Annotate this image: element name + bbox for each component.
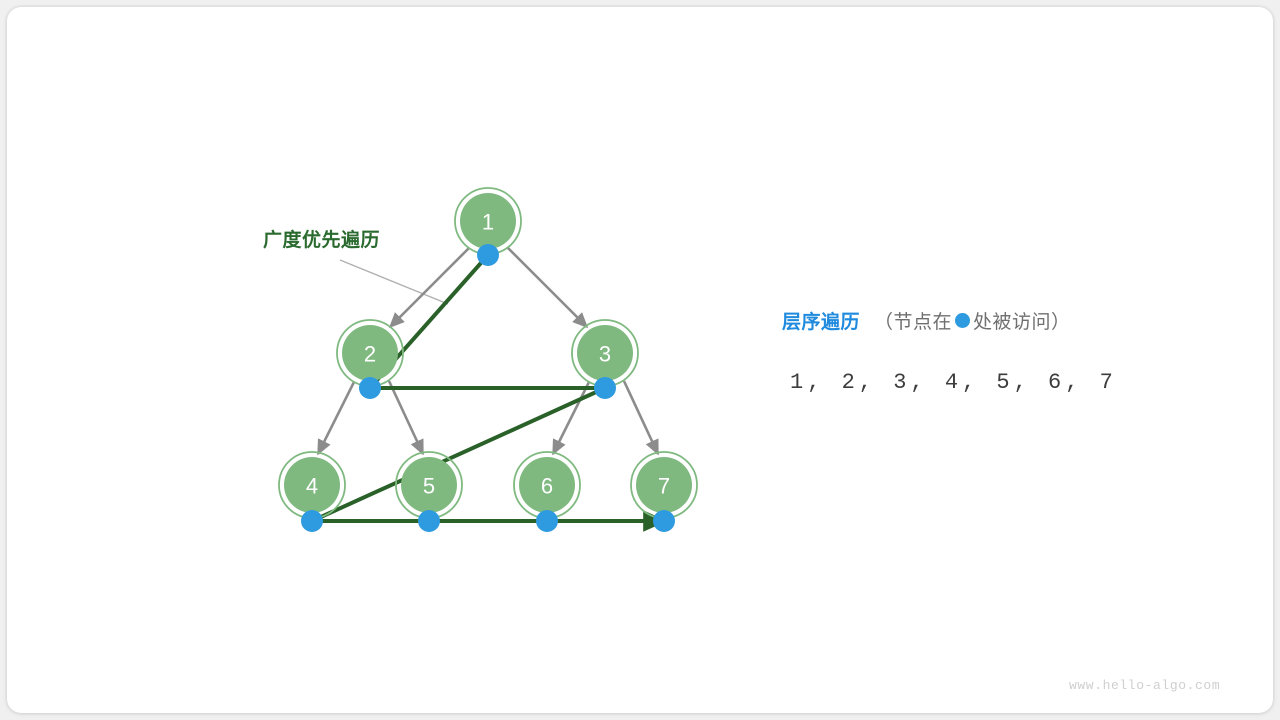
annotation-leader-line <box>340 260 448 304</box>
visit-dot-7[interactable] <box>653 510 675 532</box>
tree-edge-n3-n6 <box>553 382 589 454</box>
tree-node-4[interactable]: 4 <box>279 452 345 518</box>
node-label: 7 <box>658 474 670 499</box>
node-label: 2 <box>364 342 376 367</box>
visit-dot-2[interactable] <box>359 377 381 399</box>
visit-dot-1[interactable] <box>477 244 499 266</box>
bfs-annotation-label: 广度优先遍历 <box>263 225 380 252</box>
traversal-sequence: 1, 2, 3, 4, 5, 6, 7 <box>790 370 1117 395</box>
tree-node-3[interactable]: 3 <box>572 320 638 386</box>
node-label: 5 <box>423 474 435 499</box>
tree-node-7[interactable]: 7 <box>631 452 697 518</box>
tree-node-5[interactable]: 5 <box>396 452 462 518</box>
visit-dot-5[interactable] <box>418 510 440 532</box>
legend-note-prefix: （节点在 <box>874 307 952 334</box>
visit-dot-4[interactable] <box>301 510 323 532</box>
node-label: 4 <box>306 474 318 499</box>
tree-edge-n2-n5 <box>389 381 423 454</box>
legend-note-suffix: 处被访问） <box>973 307 1071 334</box>
legend-note: （节点在 处被访问） <box>874 307 1071 334</box>
tree-edge-n2-n4 <box>318 382 354 454</box>
tree-node-6[interactable]: 6 <box>514 452 580 518</box>
tree-node-2[interactable]: 2 <box>337 320 403 386</box>
tree-edge-n3-n7 <box>624 381 658 454</box>
node-label: 3 <box>599 342 611 367</box>
visit-dot-6[interactable] <box>536 510 558 532</box>
visit-dot-icon <box>955 313 970 328</box>
legend-row: 层序遍历 （节点在 处被访问） <box>782 307 1071 334</box>
binary-tree-bfs-diagram: 1234567 <box>7 7 1273 713</box>
visit-dot-3[interactable] <box>594 377 616 399</box>
tree-edge-n1-n3 <box>508 248 587 327</box>
figure-card: 1234567 广度优先遍历 层序遍历 （节点在 处被访问） 1, 2, 3, … <box>7 7 1273 713</box>
site-watermark: www.hello-algo.com <box>1069 678 1220 693</box>
node-label: 1 <box>482 210 494 235</box>
node-label: 6 <box>541 474 553 499</box>
diagram-stage: 1234567 广度优先遍历 层序遍历 （节点在 处被访问） 1, 2, 3, … <box>7 7 1273 713</box>
legend-title: 层序遍历 <box>782 307 860 334</box>
